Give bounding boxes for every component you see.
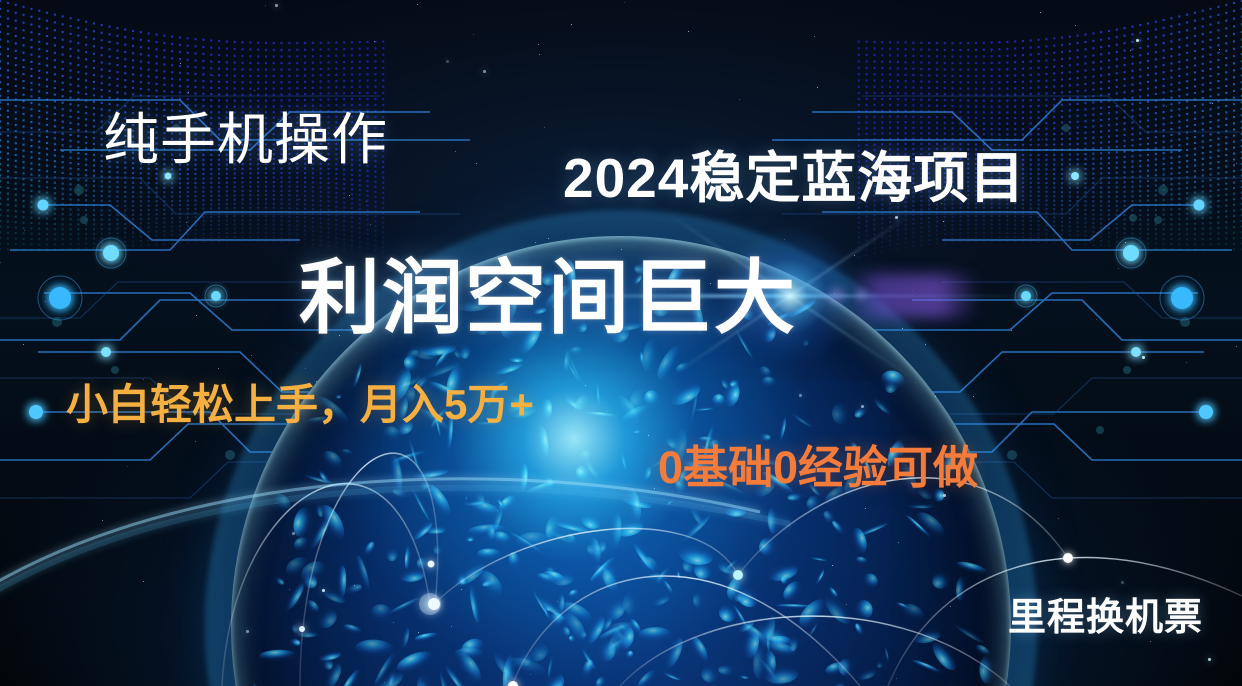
headline-top-left: 纯手机操作 bbox=[103, 95, 388, 176]
headline-top-right: 2024稳定蓝海项目 bbox=[563, 133, 1025, 213]
poster-canvas: 纯手机操作 2024稳定蓝海项目 利润空间巨大 小白轻松上手，月入5万+ 0基础… bbox=[0, 0, 1242, 686]
subline-orange: 0基础0经验可做 bbox=[658, 431, 978, 496]
headline-main: 利润空间巨大 bbox=[299, 233, 797, 350]
subline-gold: 小白轻松上手，月入5万+ bbox=[66, 371, 534, 432]
footer-tag: 里程换机票 bbox=[1008, 586, 1203, 641]
